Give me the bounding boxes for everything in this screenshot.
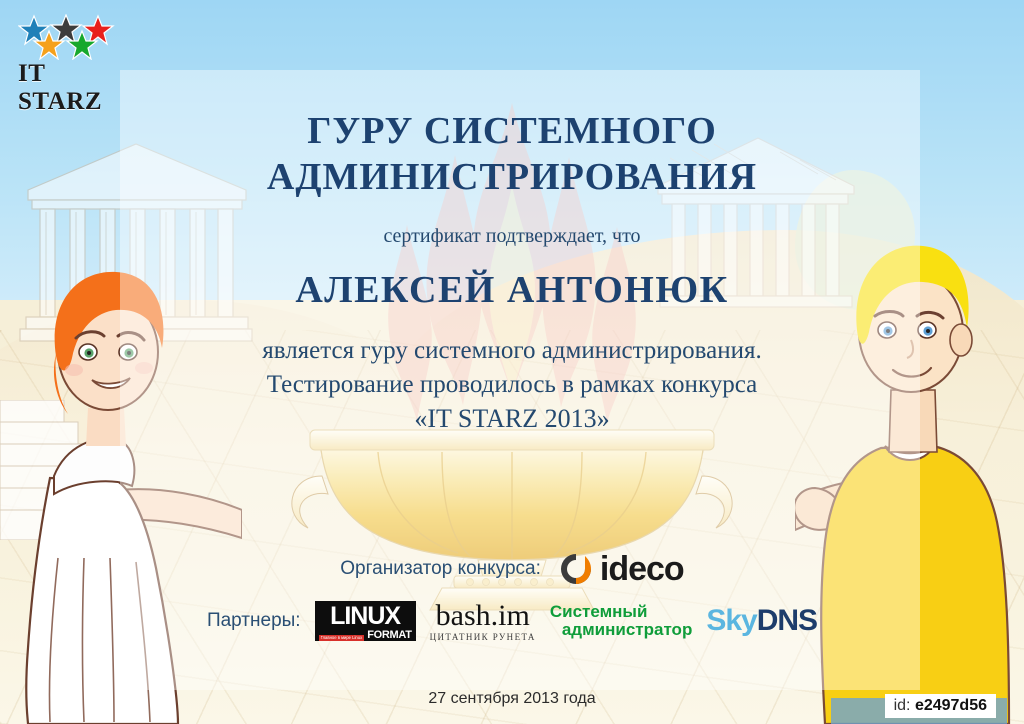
recipient-name: АЛЕКСЕЙ АНТОНЮК: [0, 268, 1024, 312]
body-line-1: является гуру системного администрирован…: [0, 334, 1024, 368]
bashim-name: bash.im: [436, 601, 530, 631]
ideco-logo[interactable]: ideco: [559, 550, 684, 589]
title-line-1: ГУРУ СИСТЕМНОГО: [0, 108, 1024, 154]
ideco-swirl-icon: [559, 552, 593, 586]
body-line-3: «IT STARZ 2013»: [0, 402, 1024, 436]
sysadmin-line-1: Системный: [550, 602, 648, 621]
certificate-subtitle: сертификат подтверждает, что: [0, 225, 1024, 248]
skydns-sky: Sky: [706, 604, 756, 637]
skydns-dns: DNS: [757, 604, 817, 637]
linux-format-name: LINUX: [319, 604, 412, 629]
partner-bashim-logo[interactable]: bash.im ЦИТАТНИК РУНЕТА: [430, 601, 536, 642]
partners-label: Партнеры:: [207, 610, 301, 632]
partner-linux-format-logo[interactable]: LINUX Главное в мире Linux FORMAT: [315, 601, 416, 641]
linux-format-tagline: Главное в мире Linux: [319, 635, 365, 641]
id-label: id:: [894, 697, 911, 714]
partner-sysadmin-logo[interactable]: Системный администратор: [550, 603, 692, 640]
linux-format-sub-row: Главное в мире Linux FORMAT: [319, 630, 412, 641]
certificate-content: ГУРУ СИСТЕМНОГО АДМИНИСТРИРОВАНИЯ сертиф…: [0, 0, 1024, 724]
sysadmin-line-2: администратор: [550, 620, 692, 639]
sysadmin-line-2-prefix: администратор: [562, 620, 692, 639]
title-line-2: АДМИНИСТРИРОВАНИЯ: [0, 154, 1024, 200]
linux-format-word: FORMAT: [367, 630, 411, 641]
ideco-wordmark: ideco: [600, 550, 684, 589]
partner-skydns-logo[interactable]: SkyDNS: [706, 604, 817, 638]
organizer-label: Организатор конкурса:: [340, 558, 541, 580]
partners-row: Партнеры: LINUX Главное в мире Linux FOR…: [0, 598, 1024, 644]
bashim-tagline: ЦИТАТНИК РУНЕТА: [430, 633, 536, 642]
organizer-row: Организатор конкурса: ideco: [0, 548, 1024, 590]
id-value: e2497d56: [915, 697, 987, 714]
certificate-canvas: IT STARZ ГУРУ СИСТЕМНОГО АДМИНИСТРИРОВАН…: [0, 0, 1024, 724]
certificate-date: 27 сентября 2013 года: [0, 690, 1024, 708]
body-line-2: Тестирование проводилось в рамках конкур…: [0, 368, 1024, 402]
certificate-body: является гуру системного администрирован…: [0, 334, 1024, 436]
certificate-title: ГУРУ СИСТЕМНОГО АДМИНИСТРИРОВАНИЯ: [0, 108, 1024, 200]
certificate-id-badge: id: e2497d56: [885, 694, 996, 718]
